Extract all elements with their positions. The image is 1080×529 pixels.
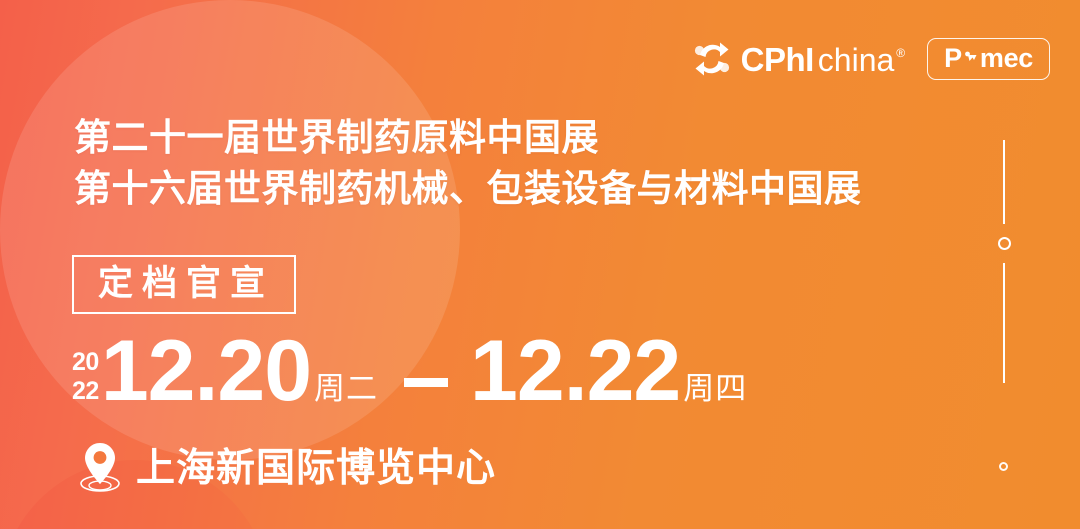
- event-banner: CPhI china ® P mec 第二十一届世界制药原料中国展 第十六届世界…: [0, 0, 1080, 529]
- end-date: 12.22: [470, 332, 680, 411]
- venue-row: 上海新国际博览中心: [70, 437, 496, 499]
- start-date: 12.20: [101, 332, 311, 411]
- year-bottom: 22: [72, 377, 99, 406]
- headline-line-1: 第二十一届世界制药原料中国展: [74, 112, 862, 163]
- venue-name: 上海新国际博览中心: [136, 449, 496, 488]
- event-date-row: 20 22 12.20 周二 12.22 周四: [72, 332, 747, 411]
- cphi-logo[interactable]: CPhI china ®: [692, 39, 906, 79]
- pmec-suffix: mec: [980, 45, 1033, 72]
- date-range-separator-icon: [404, 378, 448, 387]
- decorative-rail: [997, 140, 1011, 383]
- cphi-wordmark: CPhI: [741, 43, 814, 76]
- rail-line-bottom: [1003, 263, 1005, 383]
- logo-row: CPhI china ® P mec: [692, 38, 1050, 80]
- arrow-dot-icon: [963, 45, 979, 72]
- end-weekday: 周四: [683, 373, 747, 404]
- ring-marker-icon: [998, 237, 1011, 250]
- cycle-arrows-icon: [692, 39, 732, 79]
- cphi-china-label: china: [818, 44, 895, 76]
- year-top: 20: [72, 348, 99, 377]
- event-year: 20 22: [72, 348, 99, 405]
- announcement-badge-label: 定档官宣: [98, 264, 274, 303]
- ring-marker-lower-icon: [999, 462, 1008, 471]
- headline-block: 第二十一届世界制药原料中国展 第十六届世界制药机械、包装设备与材料中国展: [74, 112, 862, 214]
- start-weekday: 周二: [314, 373, 378, 404]
- announcement-badge: 定档官宣: [72, 255, 296, 314]
- pmec-logo[interactable]: P mec: [927, 38, 1050, 80]
- rail-line-top: [1003, 140, 1005, 224]
- headline-line-2: 第十六届世界制药机械、包装设备与材料中国展: [74, 163, 862, 214]
- registered-trademark-icon: ®: [896, 47, 905, 59]
- pmec-prefix: P: [944, 45, 962, 72]
- location-pin-icon: [70, 437, 130, 499]
